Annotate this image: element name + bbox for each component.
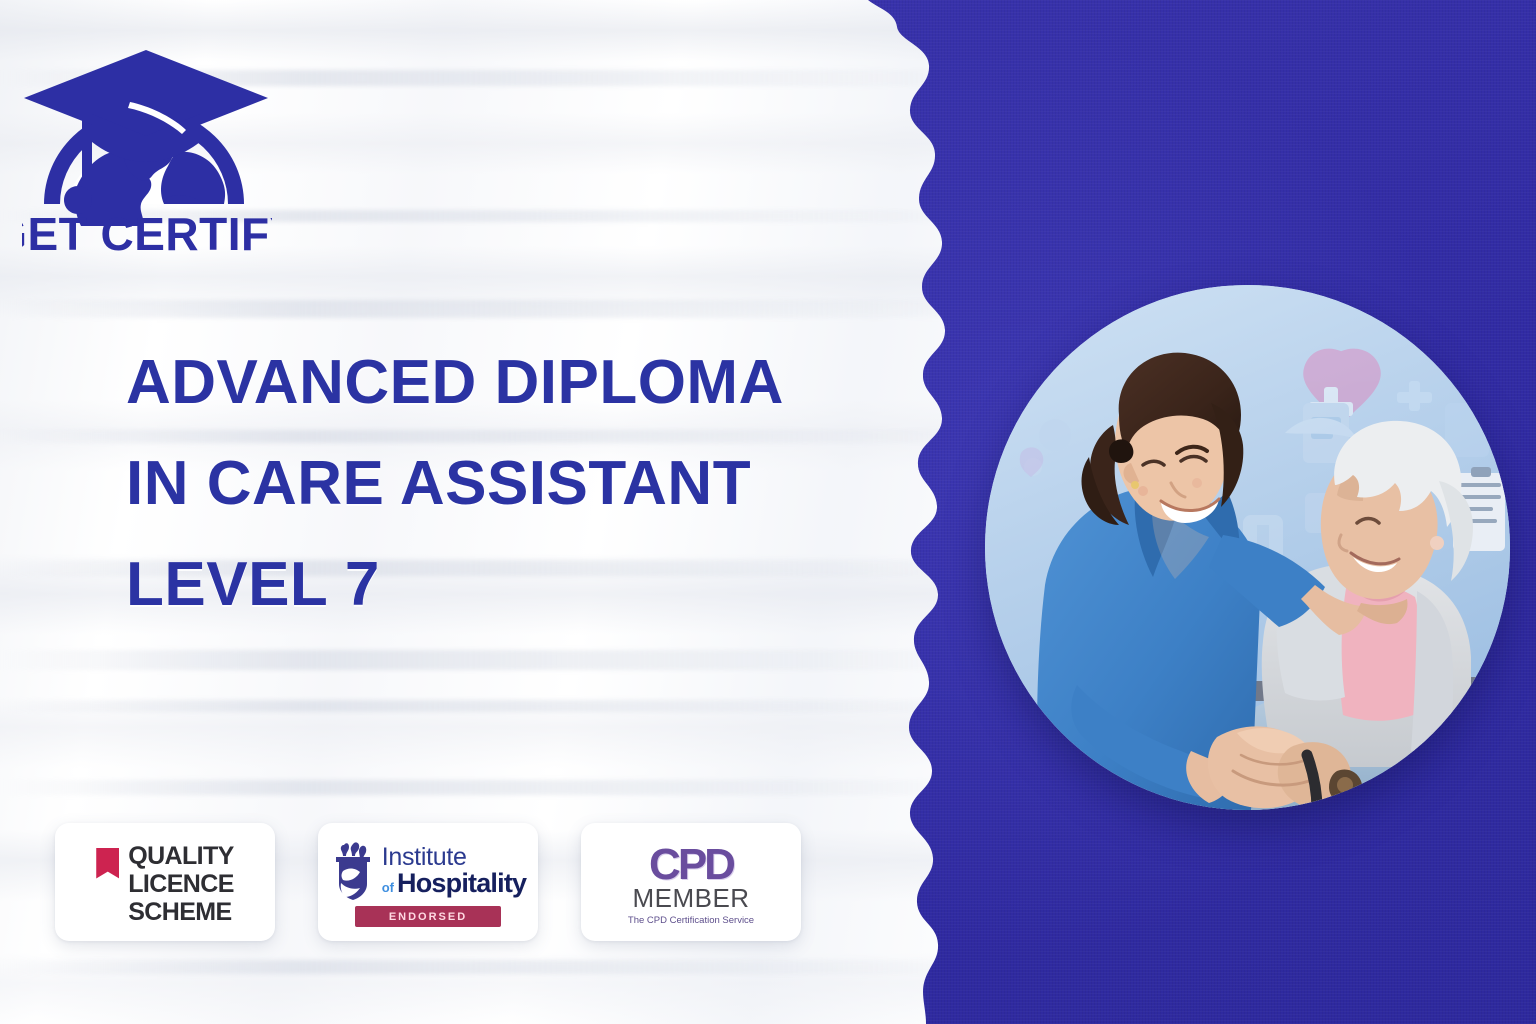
ioh-endorsed-band: ENDORSED (355, 906, 501, 927)
qls-wordmark: QUALITY LICENCE SCHEME (128, 842, 234, 926)
hero-photo (985, 285, 1510, 810)
brand-logo[interactable]: GET CERTIFY (22, 36, 272, 261)
badge-quality-licence-scheme[interactable]: QUALITY LICENCE SCHEME (55, 823, 275, 941)
title-line-1: ADVANCED DIPLOMA (126, 332, 886, 433)
caregiver-elderly-photo (985, 285, 1510, 810)
bookmark-icon (96, 848, 119, 879)
cpd-subtitle: The CPD Certification Service (616, 915, 766, 926)
ioh-institute-text: Institute (382, 845, 527, 870)
qls-line-3: SCHEME (128, 898, 234, 926)
page-title: ADVANCED DIPLOMA IN CARE ASSISTANT LEVEL… (126, 332, 886, 635)
qls-line-2: LICENCE (128, 870, 234, 898)
logo-wordmark: GET CERTIFY (22, 208, 272, 260)
cpd-member-label: MEMBER (632, 885, 749, 911)
heraldic-crest-icon (330, 841, 376, 901)
badge-cpd-member[interactable]: CPD MEMBER The CPD Certification Service (581, 823, 801, 941)
accreditation-badges: QUALITY LICENCE SCHEME (55, 823, 801, 941)
ioh-of-text: of (382, 881, 394, 894)
cpd-acronym: CPD (649, 843, 733, 887)
title-line-3: LEVEL 7 (126, 534, 886, 635)
ioh-hospitality-text: Hospitality (397, 870, 526, 897)
qls-line-1: QUALITY (128, 842, 234, 870)
title-line-2: IN CARE ASSISTANT (126, 433, 886, 534)
graduation-cap-globe-icon (24, 50, 268, 226)
course-banner: GET CERTIFY ADVANCED DIPLOMA IN CARE ASS… (0, 0, 1536, 1024)
ioh-endorsed-label: ENDORSED (389, 911, 467, 923)
badge-institute-of-hospitality[interactable]: Institute of Hospitality ENDORSED (318, 823, 538, 941)
